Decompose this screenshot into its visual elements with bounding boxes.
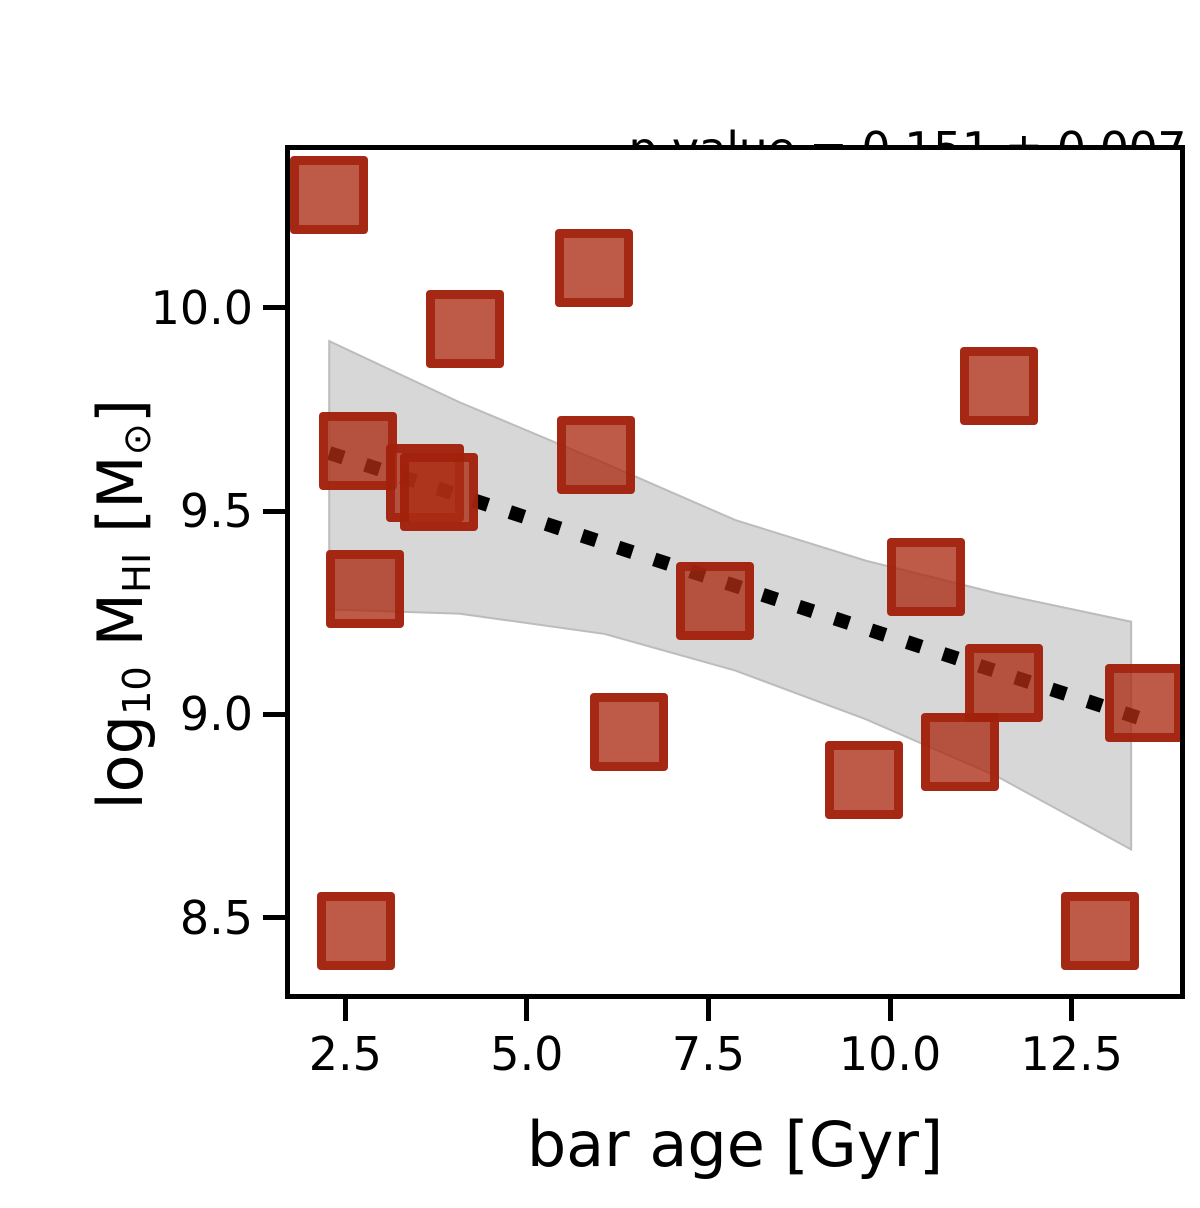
scatter-point xyxy=(317,892,395,970)
scatter-point xyxy=(1061,892,1139,970)
scatter-point xyxy=(590,693,668,771)
x-axis-tick-label: 10.0 xyxy=(839,1027,941,1081)
x-axis-tick-label: 5.0 xyxy=(490,1027,563,1081)
y-axis-label-sub-hi: HI xyxy=(115,553,160,593)
scatter-point xyxy=(1105,664,1183,742)
x-axis-tick-label: 2.5 xyxy=(309,1027,382,1081)
scatter-point xyxy=(400,453,478,531)
x-axis-tick xyxy=(888,999,893,1021)
y-axis-label-prefix: log xyxy=(84,715,157,810)
y-axis-label-suffix: [M xyxy=(84,455,157,552)
x-axis-tick-label: 12.5 xyxy=(1020,1027,1122,1081)
y-axis-tick-label: 10.0 xyxy=(151,281,253,335)
y-axis-tick xyxy=(263,305,285,310)
scatter-point xyxy=(960,347,1038,425)
y-axis-tick-label: 9.5 xyxy=(180,484,253,538)
y-axis-label: log10 MHI [M⊙] xyxy=(84,174,160,1034)
scatter-point xyxy=(555,229,633,307)
scatter-point xyxy=(676,562,754,640)
x-axis-tick-label: 7.5 xyxy=(672,1027,745,1081)
x-axis-tick xyxy=(524,999,529,1021)
y-axis-tick xyxy=(263,915,285,920)
x-axis-tick xyxy=(1069,999,1074,1021)
y-axis-tick xyxy=(263,509,285,514)
y-axis-label-close: ] xyxy=(84,399,157,423)
scatter-point xyxy=(887,538,965,616)
y-axis-label-sun-symbol: ⊙ xyxy=(115,423,160,455)
figure-canvas: p-value = 0.151 ± 0.007 r = -0.463 ± 0.0… xyxy=(0,0,1200,1208)
scatter-point xyxy=(326,550,404,628)
y-axis-tick-label: 9.0 xyxy=(180,687,253,741)
y-axis-label-mid: M xyxy=(84,593,157,666)
y-axis-tick xyxy=(263,712,285,717)
scatter-point xyxy=(921,713,999,791)
scatter-point xyxy=(290,156,368,234)
y-axis-tick-label: 8.5 xyxy=(180,891,253,945)
x-axis-label: bar age [Gyr] xyxy=(285,1108,1185,1181)
scatter-point xyxy=(825,741,903,819)
x-axis-label-text: bar age [Gyr] xyxy=(527,1108,943,1181)
x-axis-tick xyxy=(343,999,348,1021)
scatter-point xyxy=(426,290,504,368)
plot-axes xyxy=(285,145,1185,999)
x-axis-tick xyxy=(706,999,711,1021)
y-axis-label-sub-10: 10 xyxy=(115,666,160,715)
scatter-point xyxy=(557,416,635,494)
scatter-point xyxy=(965,644,1043,722)
